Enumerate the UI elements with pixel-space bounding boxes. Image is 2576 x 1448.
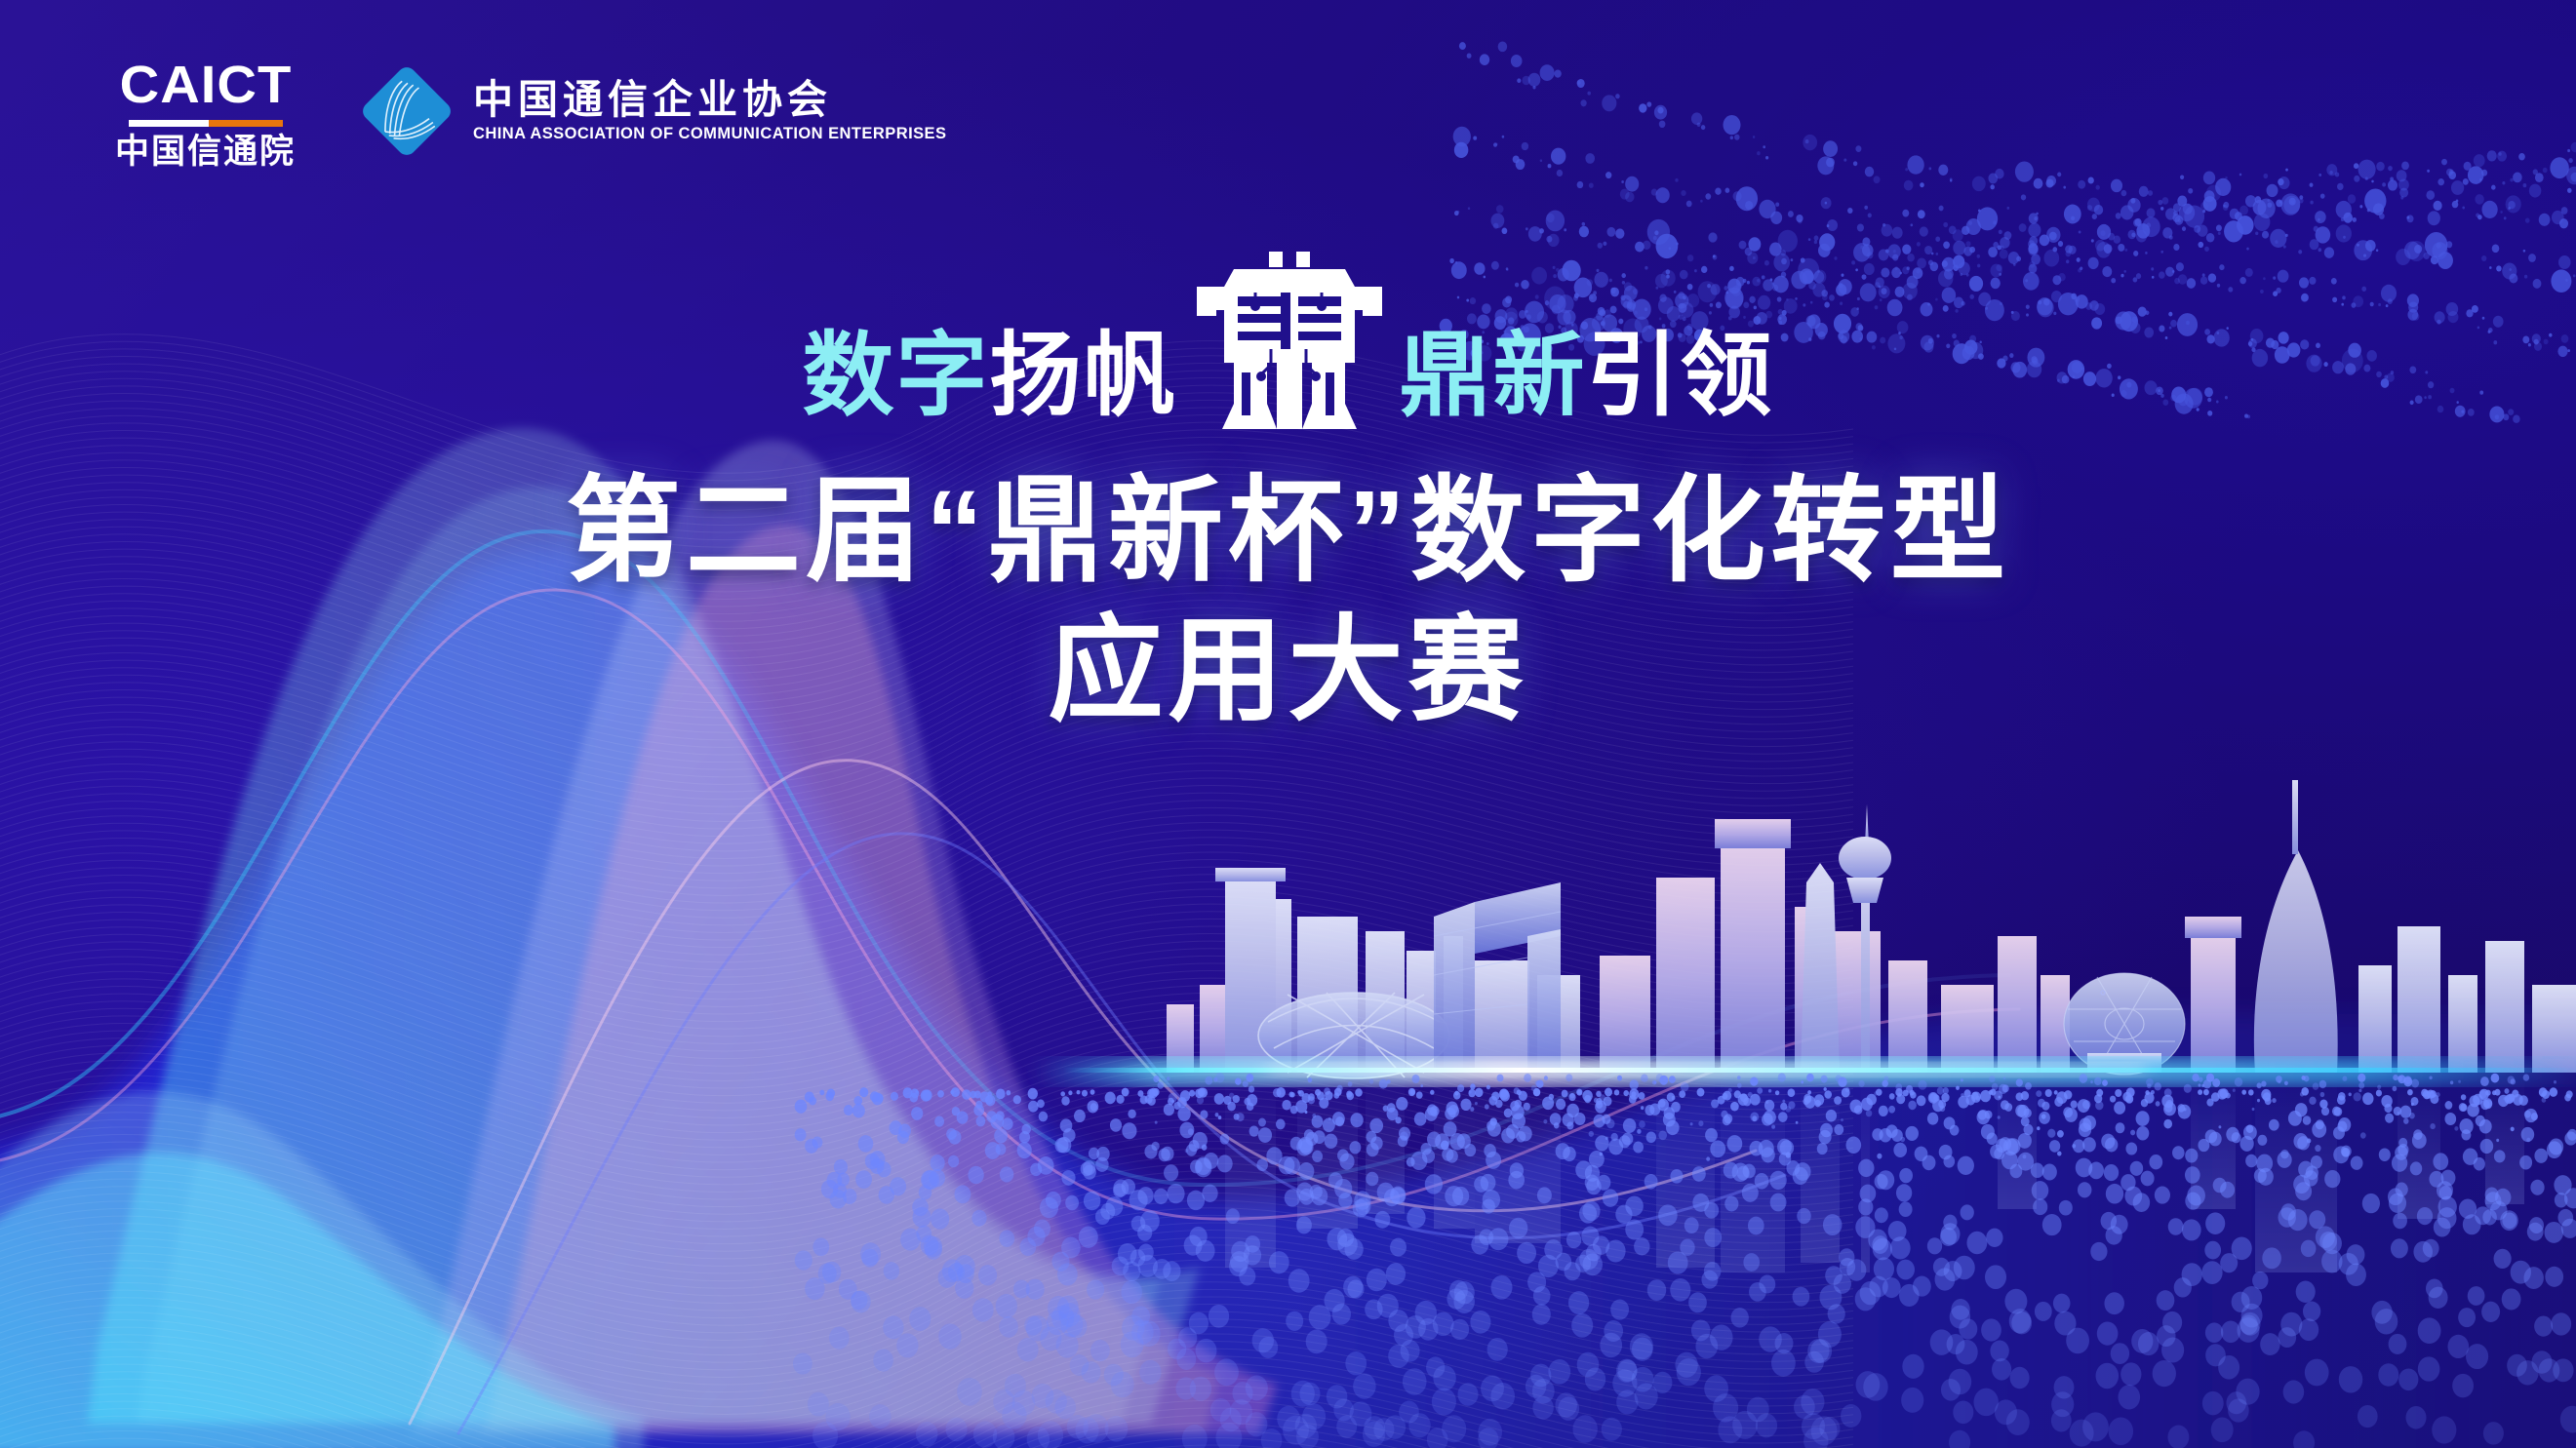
caict-chinese-name: 中国信通院 <box>115 135 296 169</box>
caict-logo: CAICT 中国信通院 <box>115 59 296 169</box>
sponsor-logo-bar: CAICT 中国信通院 中国通信企业协会 <box>115 59 946 169</box>
title-line-1: 第二届“鼎新杯”数字化转型 <box>0 462 2576 602</box>
page-title: 第二届“鼎新杯”数字化转型 应用大赛 <box>0 462 2576 741</box>
slogan-row: 数字 扬帆 <box>0 261 2576 425</box>
title-line-2: 应用大赛 <box>0 602 2576 741</box>
cace-text-block: 中国通信企业协会 CHINA ASSOCIATION OF COMMUNICAT… <box>473 80 946 142</box>
promo-poster: CAICT 中国信通院 中国通信企业协会 <box>0 0 2576 1448</box>
caict-divider-rule <box>129 120 283 127</box>
cace-english-name: CHINA ASSOCIATION OF COMMUNICATION ENTER… <box>473 126 946 142</box>
cace-logo: 中国通信企业协会 CHINA ASSOCIATION OF COMMUNICAT… <box>360 59 946 158</box>
cace-diamond-icon <box>360 64 454 158</box>
slogan-part1-rest: 扬帆 <box>989 330 1176 425</box>
slogan-part2-rest: 引领 <box>1587 330 1774 425</box>
cace-chinese-name: 中国通信企业协会 <box>473 80 946 120</box>
slogan-part1-highlight: 数字 <box>802 330 989 425</box>
caict-acronym: CAICT <box>119 59 292 111</box>
headline-block: 数字 扬帆 <box>0 261 2576 741</box>
slogan-part2-highlight: 鼎新 <box>1400 330 1587 425</box>
ding-emblem-icon <box>1183 248 1394 433</box>
